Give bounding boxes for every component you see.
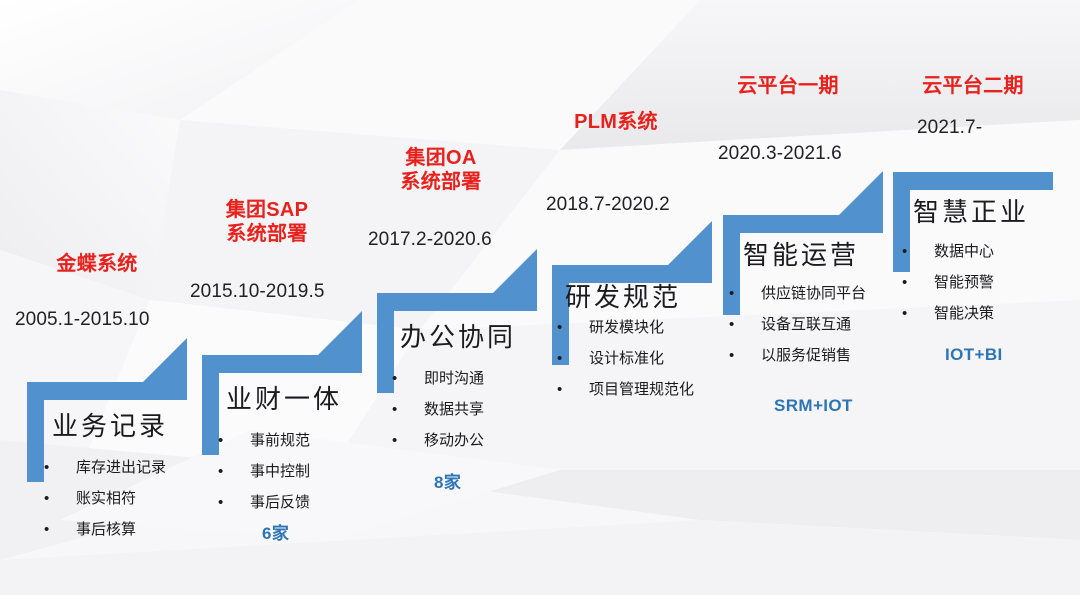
bullet-dot-icon: • xyxy=(392,425,397,456)
bullet-dot-icon: • xyxy=(902,298,907,329)
list-item: •事前规范 xyxy=(216,425,310,456)
bullet-dot-icon: • xyxy=(557,312,562,343)
list-item: •即时沟通 xyxy=(390,363,484,394)
step-4-date-range: 2018.7-2020.2 xyxy=(546,194,670,216)
bullet-dot-icon: • xyxy=(729,278,734,309)
step-5-bullet-list: •供应链协同平台 •设备互联互通 •以服务促销售 xyxy=(727,278,866,371)
bullet-dot-icon: • xyxy=(218,425,223,456)
step-6-date-range: 2021.7- xyxy=(917,117,982,139)
step-6-note: IOT+BI xyxy=(945,345,1003,365)
bullet-text: 账实相符 xyxy=(76,490,136,507)
list-item: •账实相符 xyxy=(42,483,166,514)
step-2-bullet-list: •事前规范 •事中控制 •事后反馈 xyxy=(216,425,310,518)
bullet-dot-icon: • xyxy=(44,483,49,514)
bullet-dot-icon: • xyxy=(557,374,562,405)
step-3-note: 8家 xyxy=(434,468,461,493)
list-item: •事后核算 xyxy=(42,514,166,545)
list-item: •设备互联互通 xyxy=(727,309,866,340)
step-2-arrow-icon xyxy=(318,311,362,355)
step-1-system-title: 金蝶系统 xyxy=(22,252,172,276)
step-3-arrow-icon xyxy=(493,249,537,293)
step-2-note: 6家 xyxy=(262,519,289,544)
step-1-bracket-top-bar xyxy=(27,382,187,400)
bullet-text: 事后核算 xyxy=(76,521,136,538)
step-3-bracket-top-bar xyxy=(377,293,537,311)
step-1-step-name: 业务记录 xyxy=(52,406,168,443)
step-2-date-range: 2015.10-2019.5 xyxy=(190,281,325,303)
list-item: •数据中心 xyxy=(900,236,994,267)
step-4-bullet-list: •研发模块化 •设计标准化 •项目管理规范化 xyxy=(555,312,694,405)
step-5-bracket-top-bar xyxy=(723,215,883,233)
bullet-text: 事中控制 xyxy=(250,463,310,480)
bullet-text: 智能预警 xyxy=(934,274,994,291)
bullet-dot-icon: • xyxy=(218,487,223,518)
step-2-step-name: 业财一体 xyxy=(226,379,342,416)
slide-canvas: 金蝶系统 2005.1-2015.10 业务记录 •库存进出记录 •账实相符 •… xyxy=(0,0,1080,595)
bullet-text: 智能决策 xyxy=(934,305,994,322)
step-5-arrow-icon xyxy=(839,171,883,215)
bullet-dot-icon: • xyxy=(902,236,907,267)
step-3-date-range: 2017.2-2020.6 xyxy=(368,229,492,251)
list-item: •以服务促销售 xyxy=(727,340,866,371)
bullet-text: 项目管理规范化 xyxy=(589,381,694,398)
step-1-date-range: 2005.1-2015.10 xyxy=(15,309,150,331)
step-5-note: SRM+IOT xyxy=(774,396,853,416)
list-item: •事中控制 xyxy=(216,456,310,487)
step-6-system-title: 云平台二期 xyxy=(898,74,1048,98)
step-2-system-title: 集团SAP 系统部署 xyxy=(192,198,342,247)
list-item: •移动办公 xyxy=(390,425,484,456)
bullet-text: 事前规范 xyxy=(250,432,310,449)
bullet-dot-icon: • xyxy=(44,514,49,545)
list-item: •项目管理规范化 xyxy=(555,374,694,405)
step-2-bracket-top-bar xyxy=(202,355,362,373)
list-item: •库存进出记录 xyxy=(42,452,166,483)
step-6-bullet-list: •数据中心 •智能预警 •智能决策 xyxy=(900,236,994,329)
bullet-text: 移动办公 xyxy=(424,432,484,449)
list-item: •数据共享 xyxy=(390,394,484,425)
list-item: •智能决策 xyxy=(900,298,994,329)
bullet-dot-icon: • xyxy=(218,456,223,487)
list-item: •供应链协同平台 xyxy=(727,278,866,309)
step-4-step-name: 研发规范 xyxy=(565,277,681,314)
bullet-dot-icon: • xyxy=(902,267,907,298)
bullet-dot-icon: • xyxy=(729,340,734,371)
bullet-text: 数据中心 xyxy=(934,243,994,260)
bullet-dot-icon: • xyxy=(729,309,734,340)
list-item: •事后反馈 xyxy=(216,487,310,518)
bullet-text: 事后反馈 xyxy=(250,494,310,511)
step-5-date-range: 2020.3-2021.6 xyxy=(718,143,842,165)
step-6-bracket-top-bar xyxy=(893,172,1053,190)
bullet-text: 研发模块化 xyxy=(589,319,664,336)
step-4-system-title: PLM系统 xyxy=(541,110,691,134)
step-3-system-title: 集团OA 系统部署 xyxy=(366,146,516,195)
list-item: •智能预警 xyxy=(900,267,994,298)
step-5-step-name: 智能运营 xyxy=(743,235,859,272)
bullet-dot-icon: • xyxy=(44,452,49,483)
step-1-arrow-icon xyxy=(143,338,187,382)
bullet-text: 即时沟通 xyxy=(424,370,484,387)
step-3-bullet-list: •即时沟通 •数据共享 •移动办公 xyxy=(390,363,484,456)
bullet-dot-icon: • xyxy=(557,343,562,374)
bullet-text: 库存进出记录 xyxy=(76,459,166,476)
step-1-bullet-list: •库存进出记录 •账实相符 •事后核算 xyxy=(42,452,166,545)
list-item: •设计标准化 xyxy=(555,343,694,374)
step-5-system-title: 云平台一期 xyxy=(713,74,863,98)
bullet-dot-icon: • xyxy=(392,394,397,425)
step-3-step-name: 办公协同 xyxy=(400,317,516,354)
bullet-text: 设计标准化 xyxy=(589,350,664,367)
list-item: •研发模块化 xyxy=(555,312,694,343)
bullet-text: 以服务促销售 xyxy=(761,347,851,364)
step-6-step-name: 智慧正业 xyxy=(913,192,1029,229)
step-4-arrow-icon xyxy=(668,221,712,265)
bullet-text: 设备互联互通 xyxy=(761,316,851,333)
bullet-text: 供应链协同平台 xyxy=(761,285,866,302)
bullet-dot-icon: • xyxy=(392,363,397,394)
bullet-text: 数据共享 xyxy=(424,401,484,418)
